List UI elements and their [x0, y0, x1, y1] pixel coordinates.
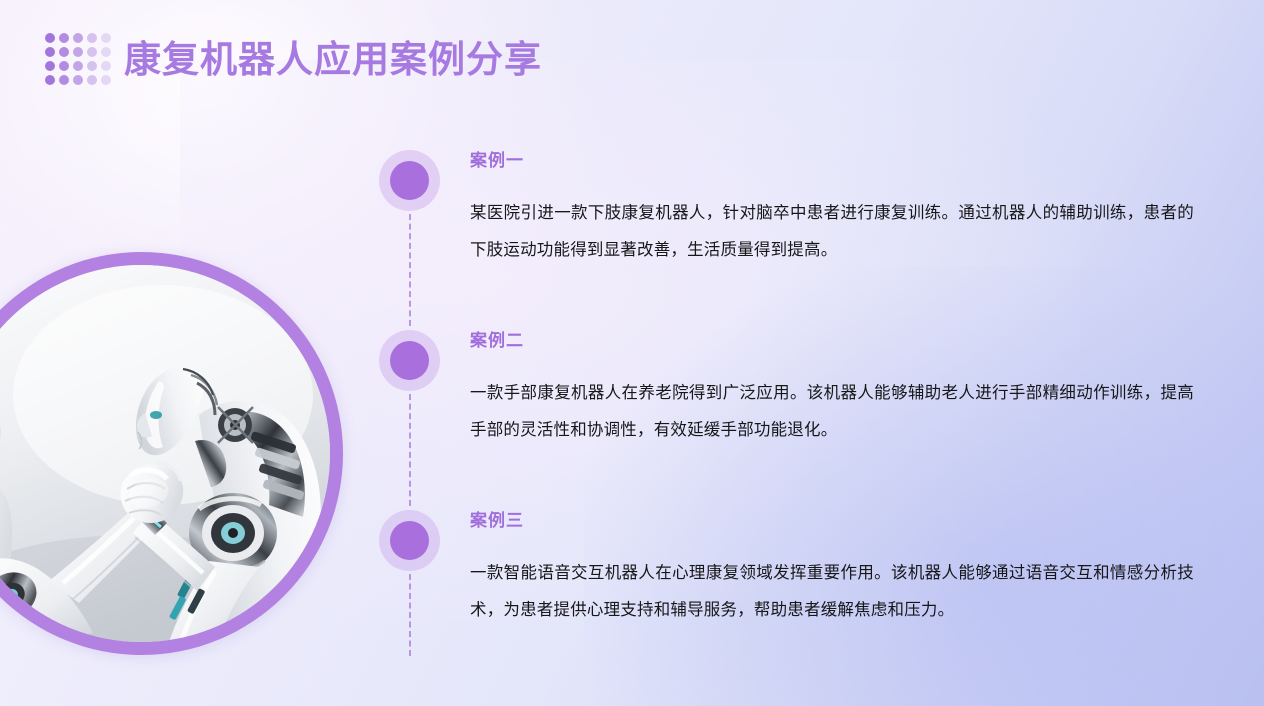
timeline-marker-2[interactable]: [379, 330, 440, 391]
case-item-2: 案例二 一款手部康复机器人在养老院得到广泛应用。该机器人能够辅助老人进行手部精细…: [470, 329, 1194, 449]
case-body-2: 一款手部康复机器人在养老院得到广泛应用。该机器人能够辅助老人进行手部精细动作训练…: [470, 375, 1194, 449]
timeline-marker-dot-2: [390, 341, 429, 380]
timeline-marker-1[interactable]: [379, 150, 440, 211]
timeline-connector-1: [409, 214, 411, 326]
case-body-1: 某医院引进一款下肢康复机器人，针对脑卒中患者进行康复训练。通过机器人的辅助训练，…: [470, 195, 1194, 269]
timeline-marker-dot-1: [390, 161, 429, 200]
case-title-3: 案例三: [470, 509, 1194, 533]
slide-canvas: 康复机器人应用案例分享: [0, 0, 1264, 706]
case-body-3: 一款智能语音交互机器人在心理康复领域发挥重要作用。该机器人能够通过语音交互和情感…: [470, 555, 1194, 629]
case-item-3: 案例三 一款智能语音交互机器人在心理康复领域发挥重要作用。该机器人能够通过语音交…: [470, 509, 1194, 629]
timeline-marker-3[interactable]: [379, 510, 440, 571]
timeline-marker-dot-3: [390, 521, 429, 560]
case-item-1: 案例一 某医院引进一款下肢康复机器人，针对脑卒中患者进行康复训练。通过机器人的辅…: [470, 149, 1194, 269]
case-title-1: 案例一: [470, 149, 1194, 173]
timeline-connector-3: [409, 574, 411, 656]
timeline-connector-2: [409, 394, 411, 506]
case-title-2: 案例二: [470, 329, 1194, 353]
